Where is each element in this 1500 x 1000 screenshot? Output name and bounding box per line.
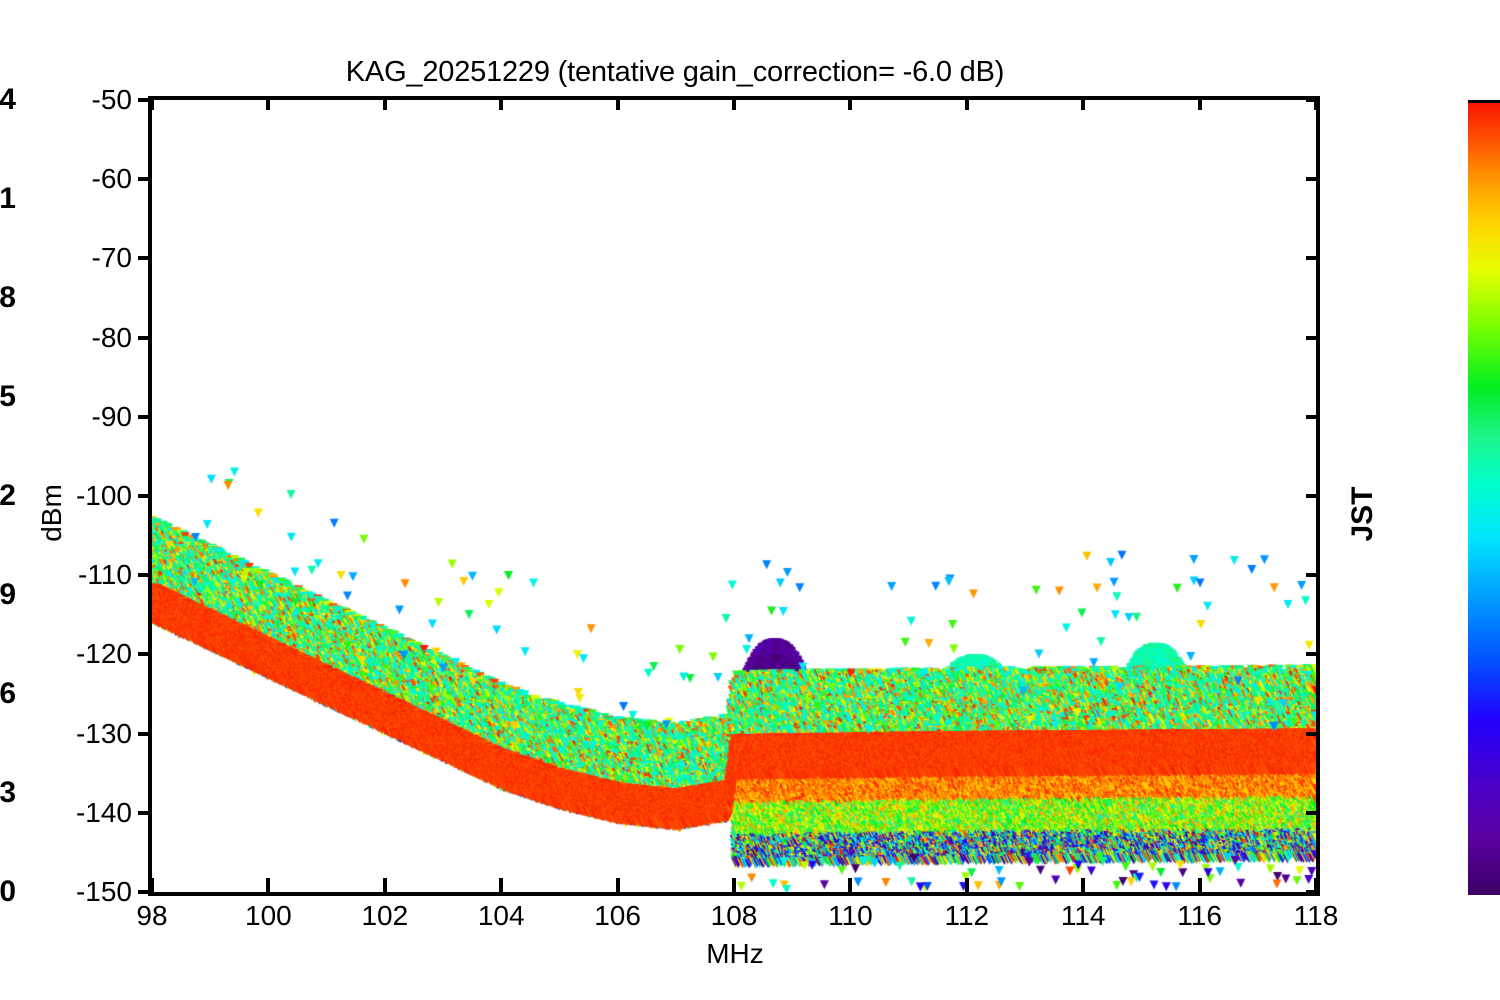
y-tick-mark-right xyxy=(1306,573,1320,577)
x-tick-mark-top xyxy=(616,96,620,110)
colorbar-tick-label: 6 xyxy=(0,677,32,711)
colorbar-tick-label: 24 xyxy=(0,83,32,117)
x-tick-label: 112 xyxy=(944,900,989,932)
x-tick-label: 104 xyxy=(478,900,525,932)
colorbar-tick-label: 21 xyxy=(0,182,32,216)
colorbar-label: JST xyxy=(1346,469,1380,559)
x-tick-label: 100 xyxy=(245,900,292,932)
x-tick-mark xyxy=(965,878,969,892)
y-tick-mark-right xyxy=(1306,177,1320,181)
y-tick-mark xyxy=(138,494,152,498)
x-tick-label: 114 xyxy=(1061,900,1106,932)
x-tick-mark xyxy=(1081,878,1085,892)
x-axis-label: MHz xyxy=(0,938,1470,970)
y-axis-label: dBm xyxy=(36,453,68,573)
x-tick-mark-top xyxy=(965,96,969,110)
x-tick-mark xyxy=(848,878,852,892)
y-tick-label: -80 xyxy=(92,322,132,354)
y-tick-mark-right xyxy=(1306,652,1320,656)
page-title: KAG_20251229 (tentative gain_correction=… xyxy=(0,56,1350,89)
y-tick-mark xyxy=(138,177,152,181)
x-tick-mark-top xyxy=(499,96,503,110)
y-tick-mark xyxy=(138,256,152,260)
colorbar-tick-label: 3 xyxy=(0,776,32,810)
colorbar-tick-label: 9 xyxy=(0,578,32,612)
x-tick-label: 106 xyxy=(594,900,641,932)
x-tick-mark xyxy=(150,878,154,892)
y-tick-label: -130 xyxy=(76,718,132,750)
x-tick-mark xyxy=(499,878,503,892)
plot-area xyxy=(148,96,1320,896)
y-tick-mark xyxy=(138,811,152,815)
y-tick-mark xyxy=(138,573,152,577)
x-tick-mark-top xyxy=(848,96,852,110)
colorbar-gradient xyxy=(1468,100,1500,895)
colorbar-tick-label: 0 xyxy=(0,875,32,909)
x-tick-label: 110 xyxy=(828,900,873,932)
x-tick-mark-top xyxy=(266,96,270,110)
y-tick-label: -50 xyxy=(92,84,132,116)
y-tick-mark xyxy=(138,732,152,736)
x-tick-mark-top xyxy=(383,96,387,110)
x-tick-label: 118 xyxy=(1294,900,1339,932)
scatter-plot-canvas xyxy=(152,100,1316,892)
y-tick-mark-right xyxy=(1306,256,1320,260)
y-tick-mark-right xyxy=(1306,415,1320,419)
y-tick-label: -100 xyxy=(76,480,132,512)
x-tick-label: 108 xyxy=(711,900,758,932)
y-tick-mark-right xyxy=(1306,732,1320,736)
y-tick-label: -60 xyxy=(92,163,132,195)
x-tick-mark-top xyxy=(1198,96,1202,110)
x-tick-mark xyxy=(266,878,270,892)
x-tick-mark-top xyxy=(150,96,154,110)
x-tick-label: 116 xyxy=(1177,900,1222,932)
y-tick-label: -120 xyxy=(76,638,132,670)
y-tick-label: -70 xyxy=(92,242,132,274)
x-tick-mark-top xyxy=(1081,96,1085,110)
y-tick-mark-right xyxy=(1306,494,1320,498)
y-tick-label: -90 xyxy=(92,401,132,433)
y-tick-mark-right xyxy=(1306,336,1320,340)
x-tick-mark-top xyxy=(1314,96,1318,110)
x-tick-mark xyxy=(1198,878,1202,892)
colorbar xyxy=(1468,100,1500,892)
y-tick-label: -140 xyxy=(76,797,132,829)
x-tick-mark-top xyxy=(732,96,736,110)
x-tick-label: 98 xyxy=(136,900,167,932)
spectrum-figure: KAG_20251229 (tentative gain_correction=… xyxy=(0,0,1500,1000)
x-tick-mark xyxy=(732,878,736,892)
colorbar-tick-label: 18 xyxy=(0,281,32,315)
y-tick-mark-right xyxy=(1306,811,1320,815)
y-tick-mark xyxy=(138,415,152,419)
x-tick-mark xyxy=(616,878,620,892)
x-tick-mark xyxy=(383,878,387,892)
colorbar-tick-label: 12 xyxy=(0,479,32,513)
colorbar-tick-label: 15 xyxy=(0,380,32,414)
y-tick-label: -110 xyxy=(78,559,132,591)
y-tick-mark xyxy=(138,336,152,340)
x-tick-mark xyxy=(1314,878,1318,892)
x-tick-label: 102 xyxy=(361,900,408,932)
y-tick-mark xyxy=(138,652,152,656)
y-tick-label: -150 xyxy=(76,876,132,908)
